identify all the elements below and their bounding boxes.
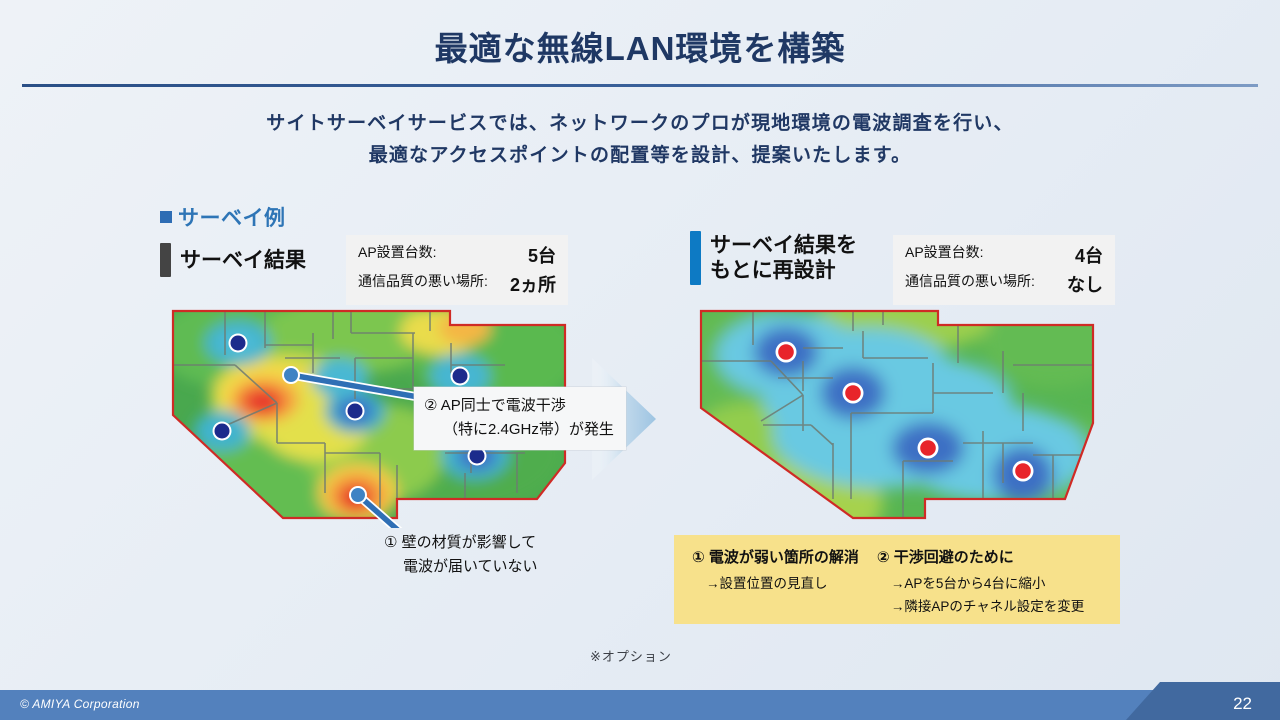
square-bullet-icon [160,211,172,223]
footer-band [0,690,1280,720]
section-heading: サーベイ例 [160,202,286,232]
summary-column-1: ① 電波が弱い箇所の解消 →設置位置の見直し [674,546,859,617]
summary-column-2-item-1: →隣接APのチャネル設定を変更 [877,596,1084,617]
summary-column-1-item-0: →設置位置の見直し [692,573,859,594]
section-heading-label: サーベイ例 [178,202,286,232]
page-title: 最適な無線LAN環境を構築 [0,22,1280,70]
option-note: ※オプション [590,646,672,665]
right-panel-heading-line-1: サーベイ結果を [710,234,857,257]
footer-copyright: © AMIYA Corporation [20,697,140,711]
left-accent-bar-icon [160,243,171,277]
summary-column-2: ② 干渉回避のために →APを5台から4台に縮小 →隣接APのチャネル設定を変更 [859,546,1084,617]
right-panel-header: サーベイ結果を もとに再設計 [690,231,857,285]
right-floorplan-heatmap [693,303,1103,528]
page-number: 22 [1233,694,1252,714]
subtitle-line-1: サイトサーベイサービスでは、ネットワークのプロが現地環境の電波調査を行い、 [0,108,1280,140]
redesign-summary-box: ① 電波が弱い箇所の解消 →設置位置の見直し ② 干渉回避のために →APを5台… [674,535,1120,624]
summary-column-2-item-0: →APを5台から4台に縮小 [877,573,1084,594]
right-info-box: AP設置台数: 4台 通信品質の悪い場所: なし [893,235,1115,305]
summary-column-1-heading: ① 電波が弱い箇所の解消 [692,546,859,567]
right-panel-heading-line-2: もとに再設計 [710,259,836,282]
summary-column-2-heading: ② 干渉回避のために [877,546,1084,567]
subtitle-line-2: 最適なアクセスポイントの配置等を設計、提案いたします。 [0,140,1280,172]
callout-interference: ② AP同士で電波干渉 （特に2.4GHz帯）が発生 [414,387,626,450]
subtitle: サイトサーベイサービスでは、ネットワークのプロが現地環境の電波調査を行い、 最適… [0,108,1280,172]
right-info-value-0: 4台 [1057,242,1103,268]
right-panel-heading: サーベイ結果を もとに再設計 [710,233,857,283]
right-info-label-1: 通信品質の悪い場所: [905,271,1045,297]
callout-interference-line-1: ② AP同士で電波干渉 [424,394,614,418]
callout-wall-line-1: ① 壁の材質が影響して [384,531,538,555]
callout-wall: ① 壁の材質が影響して 電波が届いていない [384,531,538,579]
left-info-value-1: 2ヵ所 [505,271,556,297]
callout-wall-line-2: 電波が届いていない [384,555,538,579]
left-panel-heading: サーベイ結果 [180,248,306,273]
left-info-box: AP設置台数: 5台 通信品質の悪い場所: 2ヵ所 [346,235,568,305]
left-info-value-0: 5台 [505,242,556,268]
right-info-label-0: AP設置台数: [905,242,1045,268]
left-panel-header: サーベイ結果 [160,243,306,277]
title-divider [22,84,1258,87]
left-info-label-0: AP設置台数: [358,242,493,268]
callout-interference-line-2: （特に2.4GHz帯）が発生 [424,418,614,442]
left-info-label-1: 通信品質の悪い場所: [358,271,493,297]
right-info-value-1: なし [1057,271,1103,297]
right-accent-bar-icon [690,231,701,285]
